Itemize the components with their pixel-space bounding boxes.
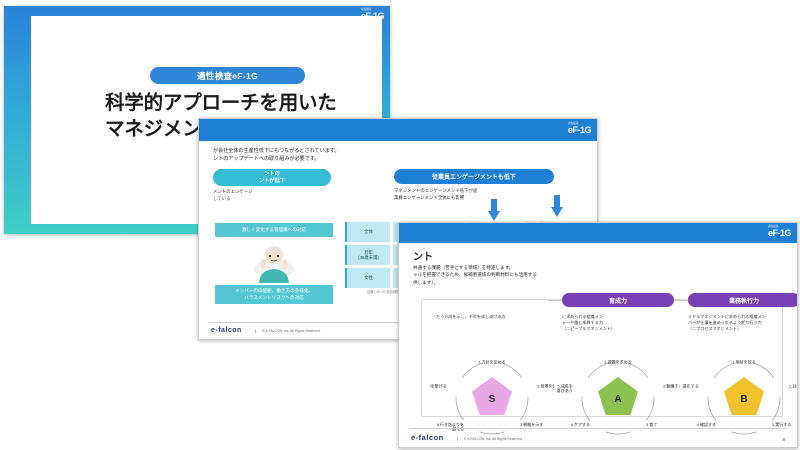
product-logo-text-slide2: eF-1G: [568, 125, 591, 135]
pentagon-step-label: 2.動機する: [663, 382, 680, 388]
product-logo-slide2: 適性検査 eF-1G: [568, 123, 591, 135]
slide3-lead-text: 共通する課題（苦手とする領域）を特定します。 ャルを把握できるため、候補者選抜の…: [413, 264, 785, 286]
cycle-arrow-icon: [708, 397, 716, 421]
cycle-arrow-icon: [502, 363, 522, 378]
desc-development: に求められる組織メン ャーや働し振興する力 （＝ピープルマネジメント）: [562, 314, 674, 332]
pentagon-letter: B: [740, 394, 747, 405]
pentagon-step-label: 2.計画する: [789, 382, 798, 388]
pentagon-step-label: 3.戦略を示す: [520, 421, 543, 427]
pentagon-panel: 育成力 業務執行力 たう方向を示し、それを成し遂げる方 に求められる組織メン ャ…: [421, 299, 783, 417]
cycle-arrow-icon: [456, 397, 464, 421]
copyright-text: © e-FALCON, Inc. All Rights Reserved.: [457, 437, 523, 441]
product-logo-sup-slide3: 適性検査: [768, 226, 791, 229]
pentagon-step-label: 1.課題を求める: [604, 359, 631, 365]
slide2-lead-text: が会社全体の生産性低下にもつながるとされています。 ントのアップデートへの取り組…: [213, 148, 587, 164]
product-logo-slide1: 適性検査 eF-1G: [361, 9, 384, 21]
cycle-arrow-icon: [606, 432, 631, 434]
slide2-pill-left: ントの ントが低下: [213, 169, 331, 186]
slide2-sub-right: マネジメントのエンゲージメント低下が従 業員エンゲージメント全体にも影響: [394, 188, 559, 201]
cycle-arrow-icon: [732, 432, 757, 434]
pentagon-step-label: 4.ケアする: [571, 421, 590, 427]
title-badge: 適性検査eF-1G: [150, 67, 305, 84]
pentagon-step-label: 5.目的を繋げる: [430, 382, 447, 388]
down-arrow-icon: [551, 195, 563, 217]
pentagon-step-label: 4.確認する: [697, 421, 716, 427]
product-logo-sup-slide1: 適性検査: [361, 9, 384, 12]
title-badge-label: 適性検査eF-1G: [197, 70, 258, 82]
table-row-label: 全体: [345, 222, 390, 242]
cycle-arrow-icon: [754, 363, 774, 378]
copyright-text: © e-FALCON, Inc. All Rights Reserved.: [255, 329, 321, 333]
product-logo-slide3: 適性検査 eF-1G: [768, 226, 791, 238]
slide3-title: ント: [413, 248, 433, 263]
pentagon-step-label: 2.背景を伝える: [537, 382, 554, 388]
cycle-arrow-icon: [772, 397, 780, 421]
product-logo-sup-slide2: 適性検査: [568, 123, 591, 126]
slide-deck-overview: 適性検査eF-1G 科学的アプローチを用いた マネジメントアップデート e-fa…: [0, 0, 800, 450]
pentagon-step-label: 5.是正する: [682, 382, 699, 388]
slide3-footer-divider: [409, 428, 787, 429]
slide2-sub-left: メントのエンゲージ している: [213, 189, 338, 202]
pentagon-cycle-b: B1.現状を捉る2.計画する3.実行する4.確認する5.是正する: [682, 348, 798, 444]
pentagon-cycle-a: A1.課題を求める2.動機する3.育て4.ケアする5.成長を喜びあう: [556, 348, 680, 444]
pentagon-step-label: 3.実行する: [772, 421, 791, 427]
pentagon-letter: A: [614, 394, 621, 405]
slide-competency-pentagons[interactable]: 適性検査 eF-1G ント 共通する課題（苦手とする領域）を特定します。 ャルを…: [398, 222, 798, 448]
slide2-header-bar: [199, 119, 597, 141]
cycle-arrow-icon: [628, 363, 648, 378]
slide2-teal-box-2: メンバーの価値観、働き方の多様化、 ハラスメントリスクへの対応: [215, 285, 333, 304]
company-logo: e-falcon: [211, 327, 242, 334]
table-row-label: 女性: [345, 268, 390, 288]
pill-development-capability: 育成力: [562, 293, 674, 307]
down-arrow-icon: [488, 199, 500, 221]
cycle-arrow-icon: [582, 397, 590, 421]
product-logo-text-slide1: eF-1G: [361, 11, 384, 21]
pentagon-letter: S: [489, 394, 496, 405]
slide2-teal-box-1: 激しく変化する管理職への対応: [215, 223, 333, 237]
page-number: 8: [782, 437, 785, 442]
slide2-pill-right: 従業員エンゲージメントも低下: [394, 169, 554, 184]
pentagon-cycle-s: S1.方針を定める2.背景を伝える3.戦略を示す4.行き詰まりを越える5.目的を…: [430, 348, 554, 444]
title-line-1: 科学的アプローチを用いた: [105, 91, 390, 117]
pentagon-step-label: 1.現状を捉る: [732, 359, 755, 365]
table-row-label: 若年 (35歳未満): [345, 245, 390, 265]
cycle-arrow-icon: [520, 397, 528, 421]
cycle-arrow-icon: [646, 397, 654, 421]
product-logo-text-slide3: eF-1G: [768, 228, 791, 238]
cycle-arrow-icon: [480, 432, 505, 434]
desc-strategy: たう方向を示し、それを成し遂げる方: [436, 314, 548, 320]
desc-execution: ミドルマネジメントに求められる組織メン バーが仕事を進められるよう舵り行う力 （…: [688, 314, 798, 332]
pentagon-step-label: 喜びあう: [557, 387, 573, 393]
company-logo: e-falcon: [411, 433, 444, 442]
cycle-arrow-icon: [588, 363, 608, 378]
cycle-arrow-icon: [714, 363, 734, 378]
slide3-header-bar: [399, 223, 797, 243]
cycle-arrow-icon: [462, 363, 482, 378]
pill-execution-capability: 業務執行力: [688, 293, 798, 307]
stressed-manager-illustration: [251, 239, 297, 283]
pentagon-step-label: 1.方針を定める: [478, 359, 505, 365]
pentagon-step-label: 3.育て: [646, 421, 657, 427]
